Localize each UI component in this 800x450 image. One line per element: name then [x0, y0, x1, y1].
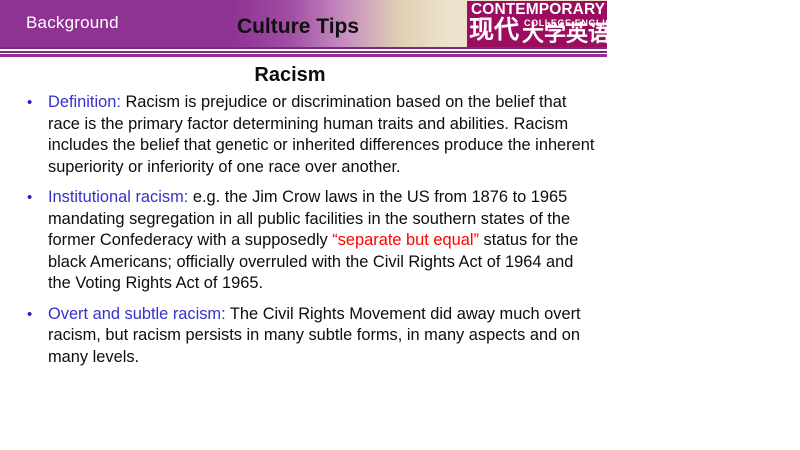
bullet-point-icon: • [27, 92, 32, 114]
header-title: Culture Tips [198, 15, 398, 39]
bullet-lead-label: Institutional racism: [48, 188, 188, 206]
section-tag-background: Background [26, 13, 119, 33]
bullet-lead-label: Definition: [48, 93, 121, 111]
contemporary-college-english-logo: CONTEMPORARY COLLEGE ENGLISH 现代 大学英语 [467, 1, 607, 47]
list-item: • Institutional racism: e.g. the Jim Cro… [0, 187, 600, 295]
bullet-point-icon: • [27, 304, 32, 326]
bullet-highlight-text: “separate but equal” [332, 231, 479, 249]
logo-chinese-xiandai: 现代 [469, 16, 519, 44]
divider-line-5 [0, 54, 607, 57]
logo-chinese-daxueyingyu: 大学英语 [522, 23, 607, 47]
list-item: • Overt and subtle racism: The Civil Rig… [0, 304, 600, 369]
bullet-list: • Definition: Racism is prejudice or dis… [0, 92, 600, 377]
slide-canvas: Background Culture Tips CONTEMPORARY COL… [0, 0, 800, 450]
bullet-body-text: Racism is prejudice or discrimination ba… [48, 93, 594, 176]
header-divider-rules [0, 47, 607, 57]
bullet-lead-label: Overt and subtle racism: [48, 305, 226, 323]
page-title: Racism [0, 64, 580, 87]
bullet-point-icon: • [27, 187, 32, 209]
list-item: • Definition: Racism is prejudice or dis… [0, 92, 600, 178]
